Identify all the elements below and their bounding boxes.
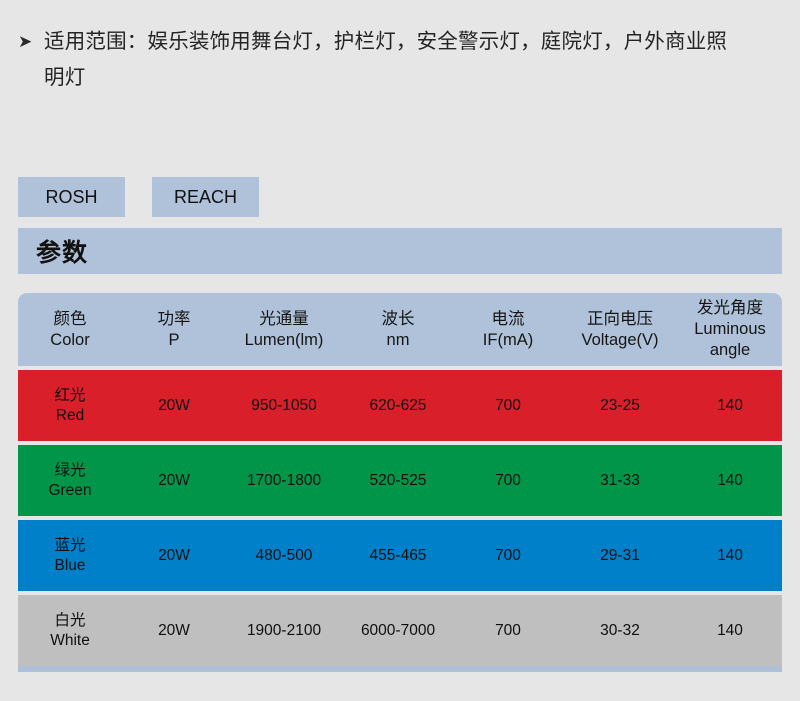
table-row: 蓝光 Blue 20W 480-500 455-465 700 29-31 14… <box>18 520 782 591</box>
header-power-cn: 功率 <box>158 309 191 330</box>
bullet-arrow-icon: ➤ <box>18 24 44 60</box>
cell-lumen: 480-500 <box>226 520 342 591</box>
cell-lumen: 950-1050 <box>226 370 342 441</box>
header-angle-cn: 发光角度 <box>697 298 763 319</box>
table-row: 绿光 Green 20W 1700-1800 520-525 700 31-33… <box>18 445 782 516</box>
cell-voltage: 31-33 <box>562 445 678 516</box>
table-header-color: 颜色 Color <box>18 293 122 366</box>
cell-color: 白光 White <box>18 595 122 666</box>
table-row: 红光 Red 20W 950-1050 620-625 700 23-25 14… <box>18 370 782 441</box>
header-current-en: IF(mA) <box>483 330 533 351</box>
header-voltage-en: Voltage(V) <box>581 330 658 351</box>
application-scope-block: ➤ 适用范围：娱乐装饰用舞台灯，护栏灯，安全警示灯，庭院灯，户外商业照明灯 <box>18 24 770 96</box>
table-header-current: 电流 IF(mA) <box>454 293 562 366</box>
badge-rosh: ROSH <box>18 177 125 217</box>
cell-current: 700 <box>454 520 562 591</box>
table-header-angle: 发光角度 Luminous angle <box>678 293 782 366</box>
header-color-cn: 颜色 <box>54 309 87 330</box>
parameters-section-header: 参数 <box>18 228 782 274</box>
cell-voltage: 23-25 <box>562 370 678 441</box>
cell-power: 20W <box>122 370 226 441</box>
application-scope-text: 适用范围：娱乐装饰用舞台灯，护栏灯，安全警示灯，庭院灯，户外商业照明灯 <box>44 24 744 96</box>
cell-voltage: 30-32 <box>562 595 678 666</box>
header-angle-en: Luminous <box>694 319 766 340</box>
header-angle-en-line2: angle <box>710 340 750 361</box>
cell-power: 20W <box>122 595 226 666</box>
cell-color-cn: 绿光 <box>54 461 85 481</box>
parameters-table: 颜色 Color 功率 P 光通量 Lumen(lm) 波长 nm 电流 IF(… <box>18 293 782 672</box>
cell-color: 蓝光 Blue <box>18 520 122 591</box>
cell-current: 700 <box>454 445 562 516</box>
certification-badge-group: ROSH REACH <box>18 177 259 217</box>
cell-wavelength: 620-625 <box>342 370 454 441</box>
cell-wavelength: 6000-7000 <box>342 595 454 666</box>
cell-color-cn: 蓝光 <box>54 536 85 556</box>
header-power-en: P <box>168 330 179 351</box>
badge-reach: REACH <box>152 177 259 217</box>
cell-angle: 140 <box>678 595 782 666</box>
header-wavelength-cn: 波长 <box>382 309 415 330</box>
table-row: 白光 White 20W 1900-2100 6000-7000 700 30-… <box>18 595 782 666</box>
cell-power: 20W <box>122 445 226 516</box>
cell-color-en: Green <box>48 481 91 501</box>
cell-color-en: Blue <box>54 556 85 576</box>
cell-lumen: 1700-1800 <box>226 445 342 516</box>
table-header-wavelength: 波长 nm <box>342 293 454 366</box>
cell-voltage: 29-31 <box>562 520 678 591</box>
header-lumen-cn: 光通量 <box>259 309 309 330</box>
cell-power: 20W <box>122 520 226 591</box>
section-title: 参数 <box>18 233 88 269</box>
table-header-voltage: 正向电压 Voltage(V) <box>562 293 678 366</box>
cell-wavelength: 455-465 <box>342 520 454 591</box>
cell-angle: 140 <box>678 445 782 516</box>
cell-wavelength: 520-525 <box>342 445 454 516</box>
cell-color: 红光 Red <box>18 370 122 441</box>
cell-current: 700 <box>454 370 562 441</box>
header-voltage-cn: 正向电压 <box>587 309 653 330</box>
table-header-row: 颜色 Color 功率 P 光通量 Lumen(lm) 波长 nm 电流 IF(… <box>18 293 782 366</box>
cell-angle: 140 <box>678 370 782 441</box>
cell-angle: 140 <box>678 520 782 591</box>
cell-lumen: 1900-2100 <box>226 595 342 666</box>
cell-current: 700 <box>454 595 562 666</box>
cell-color-en: Red <box>56 406 84 426</box>
header-color-en: Color <box>50 330 89 351</box>
cell-color-cn: 红光 <box>54 386 85 406</box>
table-footer-strip <box>18 666 782 672</box>
cell-color-cn: 白光 <box>54 611 85 631</box>
header-current-cn: 电流 <box>492 309 525 330</box>
table-header-lumen: 光通量 Lumen(lm) <box>226 293 342 366</box>
cell-color-en: White <box>50 631 90 651</box>
header-wavelength-en: nm <box>387 330 410 351</box>
cell-color: 绿光 Green <box>18 445 122 516</box>
header-lumen-en: Lumen(lm) <box>245 330 324 351</box>
table-header-power: 功率 P <box>122 293 226 366</box>
